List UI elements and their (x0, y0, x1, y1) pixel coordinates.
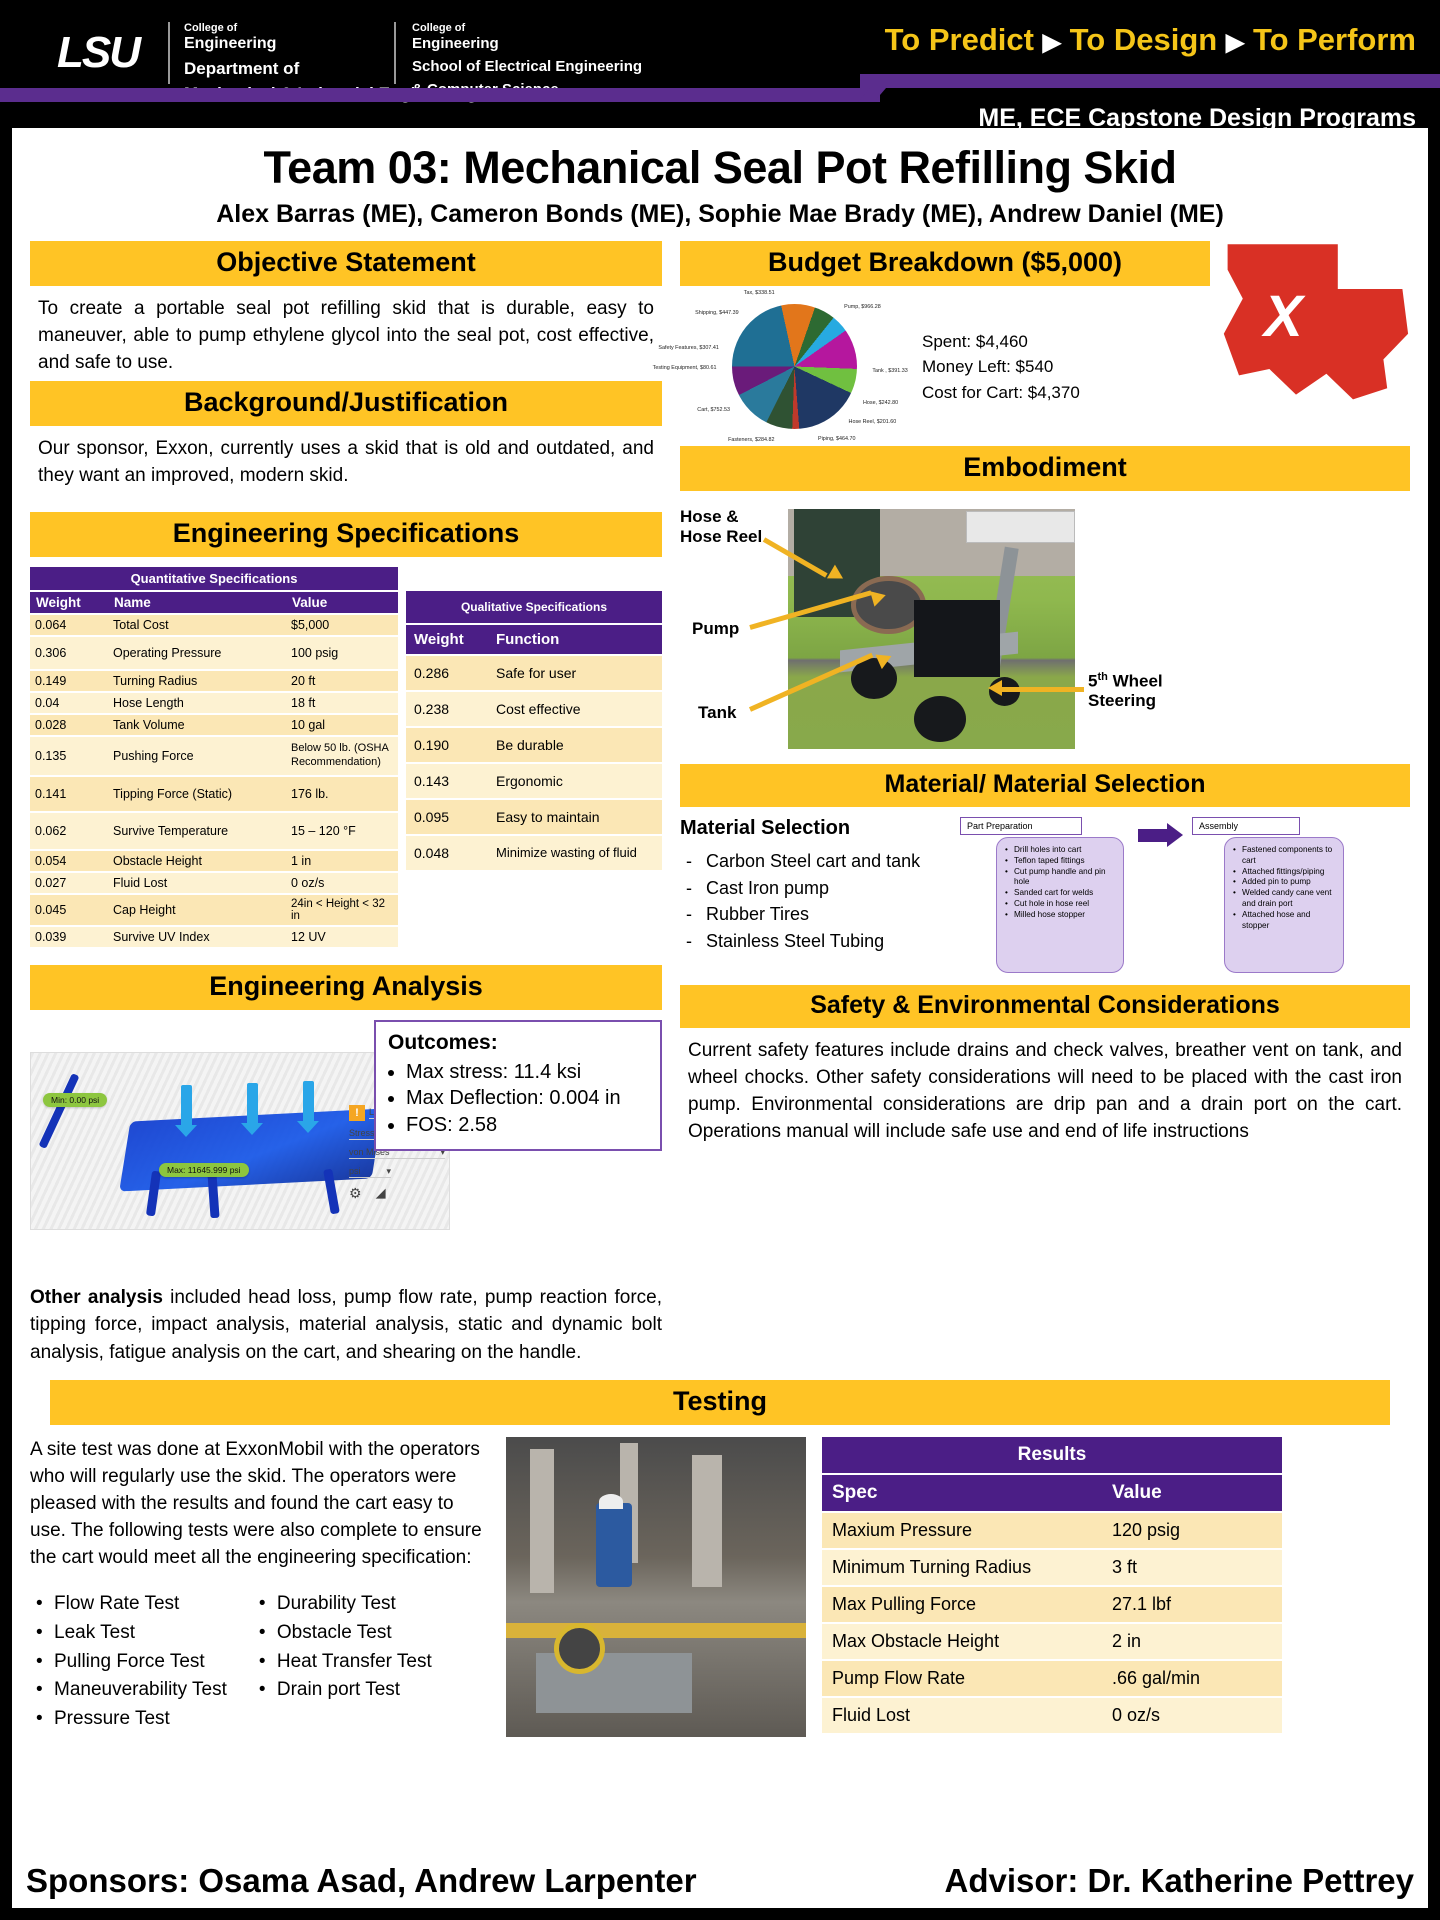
cell-name: Total Cost (108, 614, 286, 636)
cell-value: 0 oz/s (1102, 1697, 1282, 1734)
list-item: Cast Iron pump (680, 875, 950, 902)
budget-money-left: Money Left: $540 (922, 354, 1080, 380)
cell-value: 24in < Height < 32 in (286, 894, 398, 926)
cell-weight: 0.028 (30, 714, 108, 736)
photo-safety-line (506, 1623, 806, 1638)
table-row: Maxium Pressure120 psig (822, 1512, 1282, 1549)
site-test-photo (506, 1437, 806, 1737)
table-row: 0.04Hose Length18 ft (30, 692, 398, 714)
testing-text: A site test was done at ExxonMobil with … (30, 1437, 490, 1572)
advisor-label: Advisor: Dr. Katherine Pettrey (945, 1862, 1414, 1900)
engineering-label-2: Engineering (412, 35, 642, 53)
results-table: Results Spec Value Maxium Pressure120 ps… (822, 1437, 1282, 1735)
table-row: 0.028Tank Volume10 gal (30, 714, 398, 736)
cell-value: 2 in (1102, 1623, 1282, 1660)
poster-columns: Objective Statement To create a portable… (30, 241, 1410, 1366)
list-item: Flow Rate Test (30, 1590, 227, 1619)
table-row: 0.048Minimize wasting of fluid (406, 835, 662, 871)
table-row: 0.306Operating Pressure100 psig (30, 636, 398, 670)
table-title-row: Qualitative Specifications (406, 591, 662, 624)
cell-weight: 0.027 (30, 872, 108, 894)
cell-name: Survive Temperature (108, 812, 286, 850)
objective-heading: Objective Statement (30, 241, 662, 286)
fea-handle-geometry (38, 1073, 79, 1149)
arrow-line-fifth-wheel (1000, 687, 1084, 692)
cart-photo (788, 509, 1075, 749)
list-item: Maneuverability Test (30, 1676, 227, 1705)
fea-tool-row[interactable]: ⚙ ◢ (349, 1185, 445, 1202)
cell-value: Below 50 lb. (OSHA Recommendation) (286, 736, 398, 776)
poster-title: Team 03: Mechanical Seal Pot Refilling S… (30, 142, 1410, 194)
table-title-row: Quantitative Specifications (30, 567, 398, 591)
photo-hose-reel (554, 1623, 605, 1674)
cell-value: 27.1 lbf (1102, 1586, 1282, 1623)
cell-weight: 0.286 (406, 655, 488, 691)
table-row: 0.027Fluid Lost0 oz/s (30, 872, 398, 894)
analysis-heading: Engineering Analysis (30, 965, 662, 1010)
cell-value: .66 gal/min (1102, 1660, 1282, 1697)
testing-row: A site test was done at ExxonMobil with … (30, 1437, 1410, 1737)
table-row: 0.062Survive Temperature15 – 120 °F (30, 812, 398, 850)
cell-spec: Maxium Pressure (822, 1512, 1102, 1549)
pie-slice-label: Hose, $242.80 (863, 400, 898, 406)
table-row: 0.143Ergonomic (406, 763, 662, 799)
gear-icon[interactable]: ⚙ (349, 1185, 362, 1202)
page-header: LSU College of Engineering Department of… (0, 0, 1440, 148)
purple-band-left (0, 88, 880, 102)
fea-units-label: psi (349, 1166, 361, 1177)
col-function: Function (488, 624, 662, 655)
budget-spent: Spent: $4,460 (922, 329, 1080, 355)
photo-pipe (692, 1455, 722, 1587)
list-item: Attached fittings/piping (1233, 867, 1337, 878)
list-item: Fastened components to cart (1233, 845, 1337, 867)
budget-cost-for-cart: Cost for Cart: $4,370 (922, 380, 1080, 406)
part-prep-steps: Drill holes into cart Teflon taped fitti… (1005, 845, 1117, 921)
exxon-x-icon: X (1264, 283, 1303, 350)
cell-function: Safe for user (488, 655, 662, 691)
header-tagline: To Predict ▶ To Design ▶ To Perform (885, 22, 1416, 58)
cell-function: Ergonomic (488, 763, 662, 799)
tagline-perform: To Perform (1253, 22, 1416, 57)
cell-weight: 0.064 (30, 614, 108, 636)
embodiment-heading: Embodiment (680, 446, 1410, 491)
list-item: Drill holes into cart (1005, 845, 1117, 856)
material-list: Carbon Steel cart and tank Cast Iron pum… (680, 848, 950, 955)
table-row: 0.064Total Cost$5,000 (30, 614, 398, 636)
cell-value: 176 lb. (286, 776, 398, 812)
tagline-design: To Design (1070, 22, 1218, 57)
table-header-row: Spec Value (822, 1474, 1282, 1512)
pie-slice-label: Piping, $464.70 (818, 436, 855, 442)
poster-authors: Alex Barras (ME), Cameron Bonds (ME), So… (30, 200, 1410, 229)
testing-lists: Flow Rate Test Leak Test Pulling Force T… (30, 1590, 490, 1734)
annotation-fifth-wheel: 5th Wheel Steering (1088, 671, 1163, 711)
fea-load-arrow (181, 1085, 192, 1127)
cell-spec: Minimum Turning Radius (822, 1549, 1102, 1586)
engineering-analysis-area: Min: 0.00 psi Max: 11645.999 psi ! Load … (30, 1020, 662, 1270)
material-heading: Material/ Material Selection (680, 764, 1410, 807)
assembly-steps: Fastened components to cart Attached fit… (1233, 845, 1337, 932)
flow-label-part-preparation: Part Preparation (960, 817, 1082, 835)
fea-units-row[interactable]: psi▾ (349, 1166, 445, 1178)
material-selection-list-block: Material Selection Carbon Steel cart and… (680, 817, 950, 977)
photo-hard-hat (599, 1494, 623, 1509)
lsu-logo: LSU (38, 28, 158, 78)
table-row: 0.286Safe for user (406, 655, 662, 691)
table-header-row: Weight Function (406, 624, 662, 655)
other-analysis-label: Other analysis (30, 1287, 163, 1308)
list-item: Stainless Steel Tubing (680, 928, 950, 955)
photo-pipe (530, 1449, 554, 1593)
cell-weight: 0.306 (30, 636, 108, 670)
table-row: Minimum Turning Radius3 ft (822, 1549, 1282, 1586)
cell-value: 12 UV (286, 926, 398, 948)
cell-name: Tank Volume (108, 714, 286, 736)
chevron-down-icon: ▾ (386, 1166, 391, 1177)
qualitative-spec-table: Qualitative Specifications Weight Functi… (406, 591, 662, 872)
right-column: Budget Breakdown ($5,000) Pump, $966.28T… (680, 241, 1410, 1150)
annotation-hose-reel: Hose & Hose Reel (680, 507, 762, 546)
material-selection-row: Material Selection Carbon Steel cart and… (680, 817, 1410, 977)
cell-value: $5,000 (286, 614, 398, 636)
budget-summary: Spent: $4,460 Money Left: $540 Cost for … (916, 329, 1080, 406)
col-value: Value (286, 591, 398, 614)
louisiana-shape (1220, 241, 1410, 401)
photo-tank (914, 600, 1000, 677)
left-column: Objective Statement To create a portable… (30, 241, 662, 1366)
pie-slice-label: Safety Features, $307.41 (658, 345, 719, 351)
louisiana-map-logo: X (1220, 241, 1410, 401)
outcomes-list: Max stress: 11.4 ksi Max Deflection: 0.0… (388, 1059, 648, 1138)
table-row: 0.039Survive UV Index12 UV (30, 926, 398, 948)
table-row: 0.045Cap Height24in < Height < 32 in (30, 894, 398, 926)
photo-trailer (966, 511, 1075, 542)
list-item: Durability Test (253, 1590, 432, 1619)
table-row: 0.190Be durable (406, 727, 662, 763)
cell-value: 1 in (286, 850, 398, 872)
cell-name: Survive UV Index (108, 926, 286, 948)
list-item: Max Deflection: 0.004 in (406, 1085, 648, 1111)
cell-name: Obstacle Height (108, 850, 286, 872)
annotation-fifth-wheel-line1: 5th Wheel (1088, 671, 1163, 691)
quantitative-spec-table: Quantitative Specifications Weight Name … (30, 567, 398, 949)
cell-function: Minimize wasting of fluid (488, 835, 662, 871)
specs-heading: Engineering Specifications (30, 512, 662, 557)
fea-max-tag: Max: 11645.999 psi (159, 1163, 249, 1177)
table-row: 0.054Obstacle Height1 in (30, 850, 398, 872)
list-item: Cut pump handle and pin hole (1005, 867, 1117, 889)
testing-description-block: A site test was done at ExxonMobil with … (30, 1437, 490, 1734)
logo-divider-2 (394, 22, 396, 84)
list-item: Welded candy cane vent and drain port (1233, 888, 1337, 910)
tagline-predict: To Predict (885, 22, 1034, 57)
cell-weight: 0.048 (406, 835, 488, 871)
poster-canvas: Team 03: Mechanical Seal Pot Refilling S… (12, 128, 1428, 1908)
safety-text: Current safety features include drains a… (680, 1028, 1410, 1150)
logo-divider (168, 22, 170, 84)
triangle-right-icon: ▶ (1043, 29, 1061, 56)
testing-list-right: Durability Test Obstacle Test Heat Trans… (253, 1590, 432, 1734)
college-label-2: College of (412, 22, 642, 35)
list-item: Milled hose stopper (1005, 910, 1117, 921)
cell-weight: 0.238 (406, 691, 488, 727)
table-row: 0.149Turning Radius20 ft (30, 670, 398, 692)
list-item: Pressure Test (30, 1705, 227, 1734)
cell-weight: 0.039 (30, 926, 108, 948)
list-item: Max stress: 11.4 ksi (406, 1059, 648, 1085)
cell-weight: 0.04 (30, 692, 108, 714)
col-spec: Spec (822, 1474, 1102, 1512)
flow-box-assembly: Fastened components to cart Attached fit… (1224, 837, 1344, 973)
annotation-tank: Tank (698, 703, 736, 723)
cell-value: 20 ft (286, 670, 398, 692)
pie-slice-label: Pump, $966.28 (844, 304, 881, 310)
triangle-right-icon-2: ▶ (1226, 29, 1244, 56)
flow-box-part-preparation: Drill holes into cart Teflon taped fitti… (996, 837, 1124, 973)
spec-tables-wrap: Quantitative Specifications Weight Name … (30, 567, 662, 949)
list-item: Obstacle Test (253, 1619, 432, 1648)
cell-weight: 0.045 (30, 894, 108, 926)
list-item: Teflon taped fittings (1005, 856, 1117, 867)
pie-slice-label: Fasteners, $284.82 (728, 437, 774, 443)
fea-load-arrow (303, 1081, 314, 1123)
photo-operator (596, 1503, 632, 1587)
fea-load-arrow (247, 1083, 258, 1125)
cell-weight: 0.054 (30, 850, 108, 872)
table-row: 0.238Cost effective (406, 691, 662, 727)
cell-weight: 0.149 (30, 670, 108, 692)
photo-wheel (914, 696, 966, 742)
outcomes-title: Outcomes: (388, 1031, 648, 1055)
cell-value: 100 psig (286, 636, 398, 670)
cell-value: 18 ft (286, 692, 398, 714)
table-title-row: Results (822, 1437, 1282, 1474)
annotation-hose-reel-line2: Hose Reel (680, 527, 762, 547)
flow-arrow-icon (1138, 829, 1168, 842)
col-weight: Weight (406, 624, 488, 655)
cell-weight: 0.062 (30, 812, 108, 850)
annotation-pump: Pump (692, 619, 739, 639)
list-item: FOS: 2.58 (406, 1112, 648, 1138)
annotation-hose-reel-line1: Hose & (680, 507, 762, 527)
testing-list-left: Flow Rate Test Leak Test Pulling Force T… (30, 1590, 227, 1734)
cell-function: Cost effective (488, 691, 662, 727)
objective-text: To create a portable seal pot refilling … (30, 286, 662, 381)
cell-name: Operating Pressure (108, 636, 286, 670)
embodiment-figure: Hose & Hose Reel Pump Tank 5th Wheel (680, 499, 1410, 764)
wheel-superscript: th (1097, 671, 1107, 683)
table-row: Pump Flow Rate.66 gal/min (822, 1660, 1282, 1697)
list-item: Drain port Test (253, 1676, 432, 1705)
fea-result-label: Stress (349, 1128, 375, 1139)
cell-name: Hose Length (108, 692, 286, 714)
wheel-word: Wheel (1108, 672, 1163, 691)
pie-slices (732, 304, 857, 429)
pie-slice-label: Tank , $391.33 (872, 368, 907, 374)
list-item: Sanded cart for welds (1005, 888, 1117, 899)
pie-slice-label: Cart, $752.53 (697, 407, 730, 413)
table-row: 0.135Pushing ForceBelow 50 lb. (OSHA Rec… (30, 736, 398, 776)
table-header-row: Weight Name Value (30, 591, 398, 614)
col-weight: Weight (30, 591, 108, 614)
col-value: Value (1102, 1474, 1282, 1512)
cell-spec: Pump Flow Rate (822, 1660, 1102, 1697)
background-text: Our sponsor, Exxon, currently uses a ski… (30, 426, 662, 494)
table-row: 0.095Easy to maintain (406, 799, 662, 835)
cell-name: Turning Radius (108, 670, 286, 692)
table-row: Max Obstacle Height2 in (822, 1623, 1282, 1660)
fea-min-tag: Min: 0.00 psi (43, 1093, 107, 1107)
cell-weight: 0.143 (406, 763, 488, 799)
poster-footer: Sponsors: Osama Asad, Andrew Larpenter A… (12, 1858, 1428, 1908)
budget-row: Pump, $966.28Tank , $391.33Hose, $242.80… (680, 292, 1210, 442)
safety-heading: Safety & Environmental Considerations (680, 985, 1410, 1028)
table-row: Max Pulling Force27.1 lbf (822, 1586, 1282, 1623)
pie-slice-label: Testing Equipment, $80.61 (653, 365, 717, 371)
cell-name: Cap Height (108, 894, 286, 926)
fea-units-select[interactable]: psi▾ (349, 1166, 391, 1178)
pie-slice-label: Tax, $338.51 (744, 290, 775, 296)
list-item: Carbon Steel cart and tank (680, 848, 950, 875)
cell-name: Tipping Force (Static) (108, 776, 286, 812)
cell-value: 0 oz/s (286, 872, 398, 894)
table-row: 0.141Tipping Force (Static)176 lb. (30, 776, 398, 812)
sponsors-label: Sponsors: Osama Asad, Andrew Larpenter (26, 1862, 697, 1900)
flow-label-assembly: Assembly (1192, 817, 1300, 835)
cell-name: Pushing Force (108, 736, 286, 776)
other-analysis-text: Other analysis included head loss, pump … (30, 1284, 662, 1366)
cell-spec: Fluid Lost (822, 1697, 1102, 1734)
annotation-fifth-wheel-line2: Steering (1088, 691, 1163, 711)
school-electrical-label: School of Electrical Engineering (412, 58, 642, 76)
legend-icon[interactable]: ◢ (376, 1185, 386, 1201)
cell-weight: 0.141 (30, 776, 108, 812)
cell-weight: 0.135 (30, 736, 108, 776)
background-heading: Background/Justification (30, 381, 662, 426)
results-title: Results (822, 1437, 1282, 1474)
qualitative-title: Qualitative Specifications (406, 591, 662, 624)
list-item: Rubber Tires (680, 901, 950, 928)
list-item: Added pin to pump (1233, 877, 1337, 888)
pie-slice-label: Shipping, $447.39 (695, 310, 738, 316)
warning-icon: ! (349, 1105, 365, 1121)
cell-weight: 0.190 (406, 727, 488, 763)
outcomes-box: Outcomes: Max stress: 11.4 ksi Max Defle… (374, 1020, 662, 1151)
list-item: Cut hole in hose reel (1005, 899, 1117, 910)
cell-name: Fluid Lost (108, 872, 286, 894)
cell-weight: 0.095 (406, 799, 488, 835)
cell-value: 120 psig (1102, 1512, 1282, 1549)
list-item: Heat Transfer Test (253, 1648, 432, 1677)
budget-pie-chart: Pump, $966.28Tank , $391.33Hose, $242.80… (680, 292, 910, 442)
purple-band-right (860, 74, 1440, 88)
testing-heading: Testing (50, 1380, 1390, 1425)
quantitative-title: Quantitative Specifications (30, 567, 398, 591)
cell-function: Easy to maintain (488, 799, 662, 835)
cell-spec: Max Pulling Force (822, 1586, 1102, 1623)
pie-slice-label: Hose Reel, $201.60 (849, 419, 897, 425)
list-item: Attached hose and stopper (1233, 910, 1337, 932)
list-item: Leak Test (30, 1619, 227, 1648)
table-row: Fluid Lost0 oz/s (822, 1697, 1282, 1734)
budget-heading: Budget Breakdown ($5,000) (680, 241, 1210, 286)
cell-spec: Max Obstacle Height (822, 1623, 1102, 1660)
col-name: Name (108, 591, 286, 614)
manufacturing-flow-diagram: Part Preparation Drill holes into cart T… (960, 817, 1400, 977)
cell-value: 3 ft (1102, 1549, 1282, 1586)
cell-function: Be durable (488, 727, 662, 763)
cell-value: 10 gal (286, 714, 398, 736)
arrow-head-fifth-wheel (988, 680, 1002, 696)
material-subheading: Material Selection (680, 817, 950, 840)
cell-value: 15 – 120 °F (286, 812, 398, 850)
list-item: Pulling Force Test (30, 1648, 227, 1677)
